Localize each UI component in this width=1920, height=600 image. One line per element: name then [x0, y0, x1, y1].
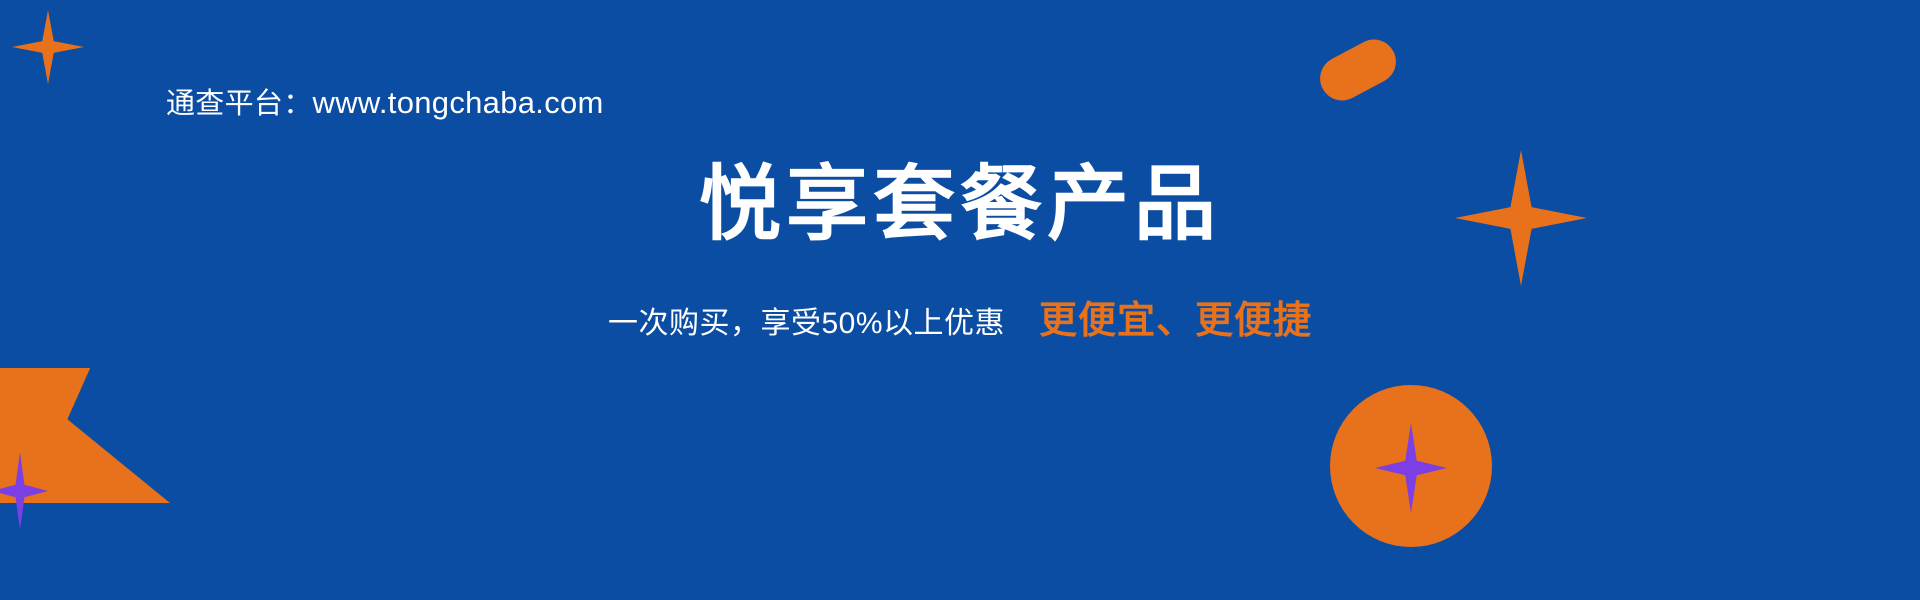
platform-label: 通查平台：	[166, 88, 313, 120]
platform-url: www.tongchaba.com	[313, 85, 604, 120]
platform-line: 通查平台：www.tongchaba.com	[166, 84, 604, 122]
subtitle-line: 一次购买，享受50%以上优惠更便宜、更便捷	[0, 295, 1920, 348]
page-title: 悦享套餐产品	[0, 160, 1920, 250]
subtitle-highlight: 更便宜、更便捷	[1039, 300, 1312, 342]
promo-banner: 通查平台：www.tongchaba.com 悦享套餐产品 一次购买，享受50%…	[0, 0, 1920, 600]
banner-content: 通查平台：www.tongchaba.com 悦享套餐产品 一次购买，享受50%…	[0, 0, 1920, 600]
subtitle-text: 一次购买，享受50%以上优惠	[608, 307, 1005, 340]
